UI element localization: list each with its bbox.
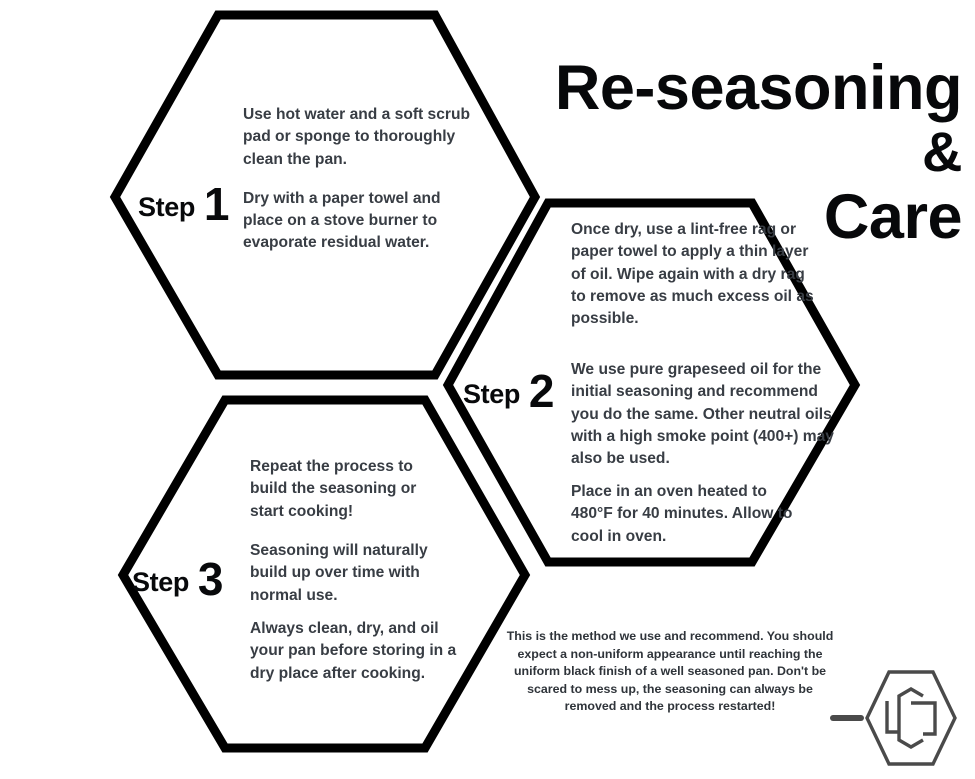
step-1-body: Use hot water and a soft scrub pad or sp…	[243, 104, 471, 255]
logo-hexagon-outline	[867, 672, 955, 764]
step-3-paragraph-3: Always clean, dry, and oil your pan befo…	[250, 618, 465, 685]
step-3-paragraph-2: Seasoning will naturally build up over t…	[250, 540, 455, 607]
step-word-1: Step	[138, 192, 195, 223]
step-2-body-part-3: Place in an oven heated to 480°F for 40 …	[571, 481, 811, 548]
step-word-3: Step	[132, 567, 189, 598]
step-label-1: Step 1	[138, 182, 230, 223]
title-line-2: &	[442, 125, 962, 179]
step-3-body-part-2: Seasoning will naturally build up over t…	[250, 540, 455, 607]
step-2-paragraph-3: Place in an oven heated to 480°F for 40 …	[571, 481, 811, 548]
step-3-body-part-1: Repeat the process to build the seasonin…	[250, 456, 450, 523]
step-2-paragraph-1: Once dry, use a lint-free rag or paper t…	[571, 219, 816, 330]
logo-monogram-l	[887, 701, 899, 732]
step-word-2: Step	[463, 379, 520, 410]
hexagon-pan-monogram-logo	[825, 662, 970, 774]
step-1-paragraph-1: Use hot water and a soft scrub pad or sp…	[243, 104, 471, 171]
step-number-1: 1	[204, 186, 230, 223]
logo-monogram-c	[899, 689, 923, 747]
step-number-3: 3	[198, 561, 224, 598]
title-line-1: Re-seasoning	[442, 58, 962, 119]
step-3-body-part-3: Always clean, dry, and oil your pan befo…	[250, 618, 465, 685]
step-1-paragraph-2: Dry with a paper towel and place on a st…	[243, 188, 471, 255]
step-label-2: Step 2	[463, 369, 555, 410]
step-label-3: Step 3	[132, 557, 224, 598]
step-2-paragraph-2: We use pure grapeseed oil for the initia…	[571, 359, 836, 470]
logo-monogram-n	[911, 703, 935, 734]
step-number-2: 2	[529, 373, 555, 410]
infographic-poster: Re-seasoning & Care Step 1 Use hot water…	[0, 0, 975, 779]
footnote-text: This is the method we use and recommend.…	[505, 628, 835, 716]
step-2-body-part-1: Once dry, use a lint-free rag or paper t…	[571, 219, 816, 330]
step-3-paragraph-1: Repeat the process to build the seasonin…	[250, 456, 450, 523]
step-2-body-part-2: We use pure grapeseed oil for the initia…	[571, 359, 836, 470]
